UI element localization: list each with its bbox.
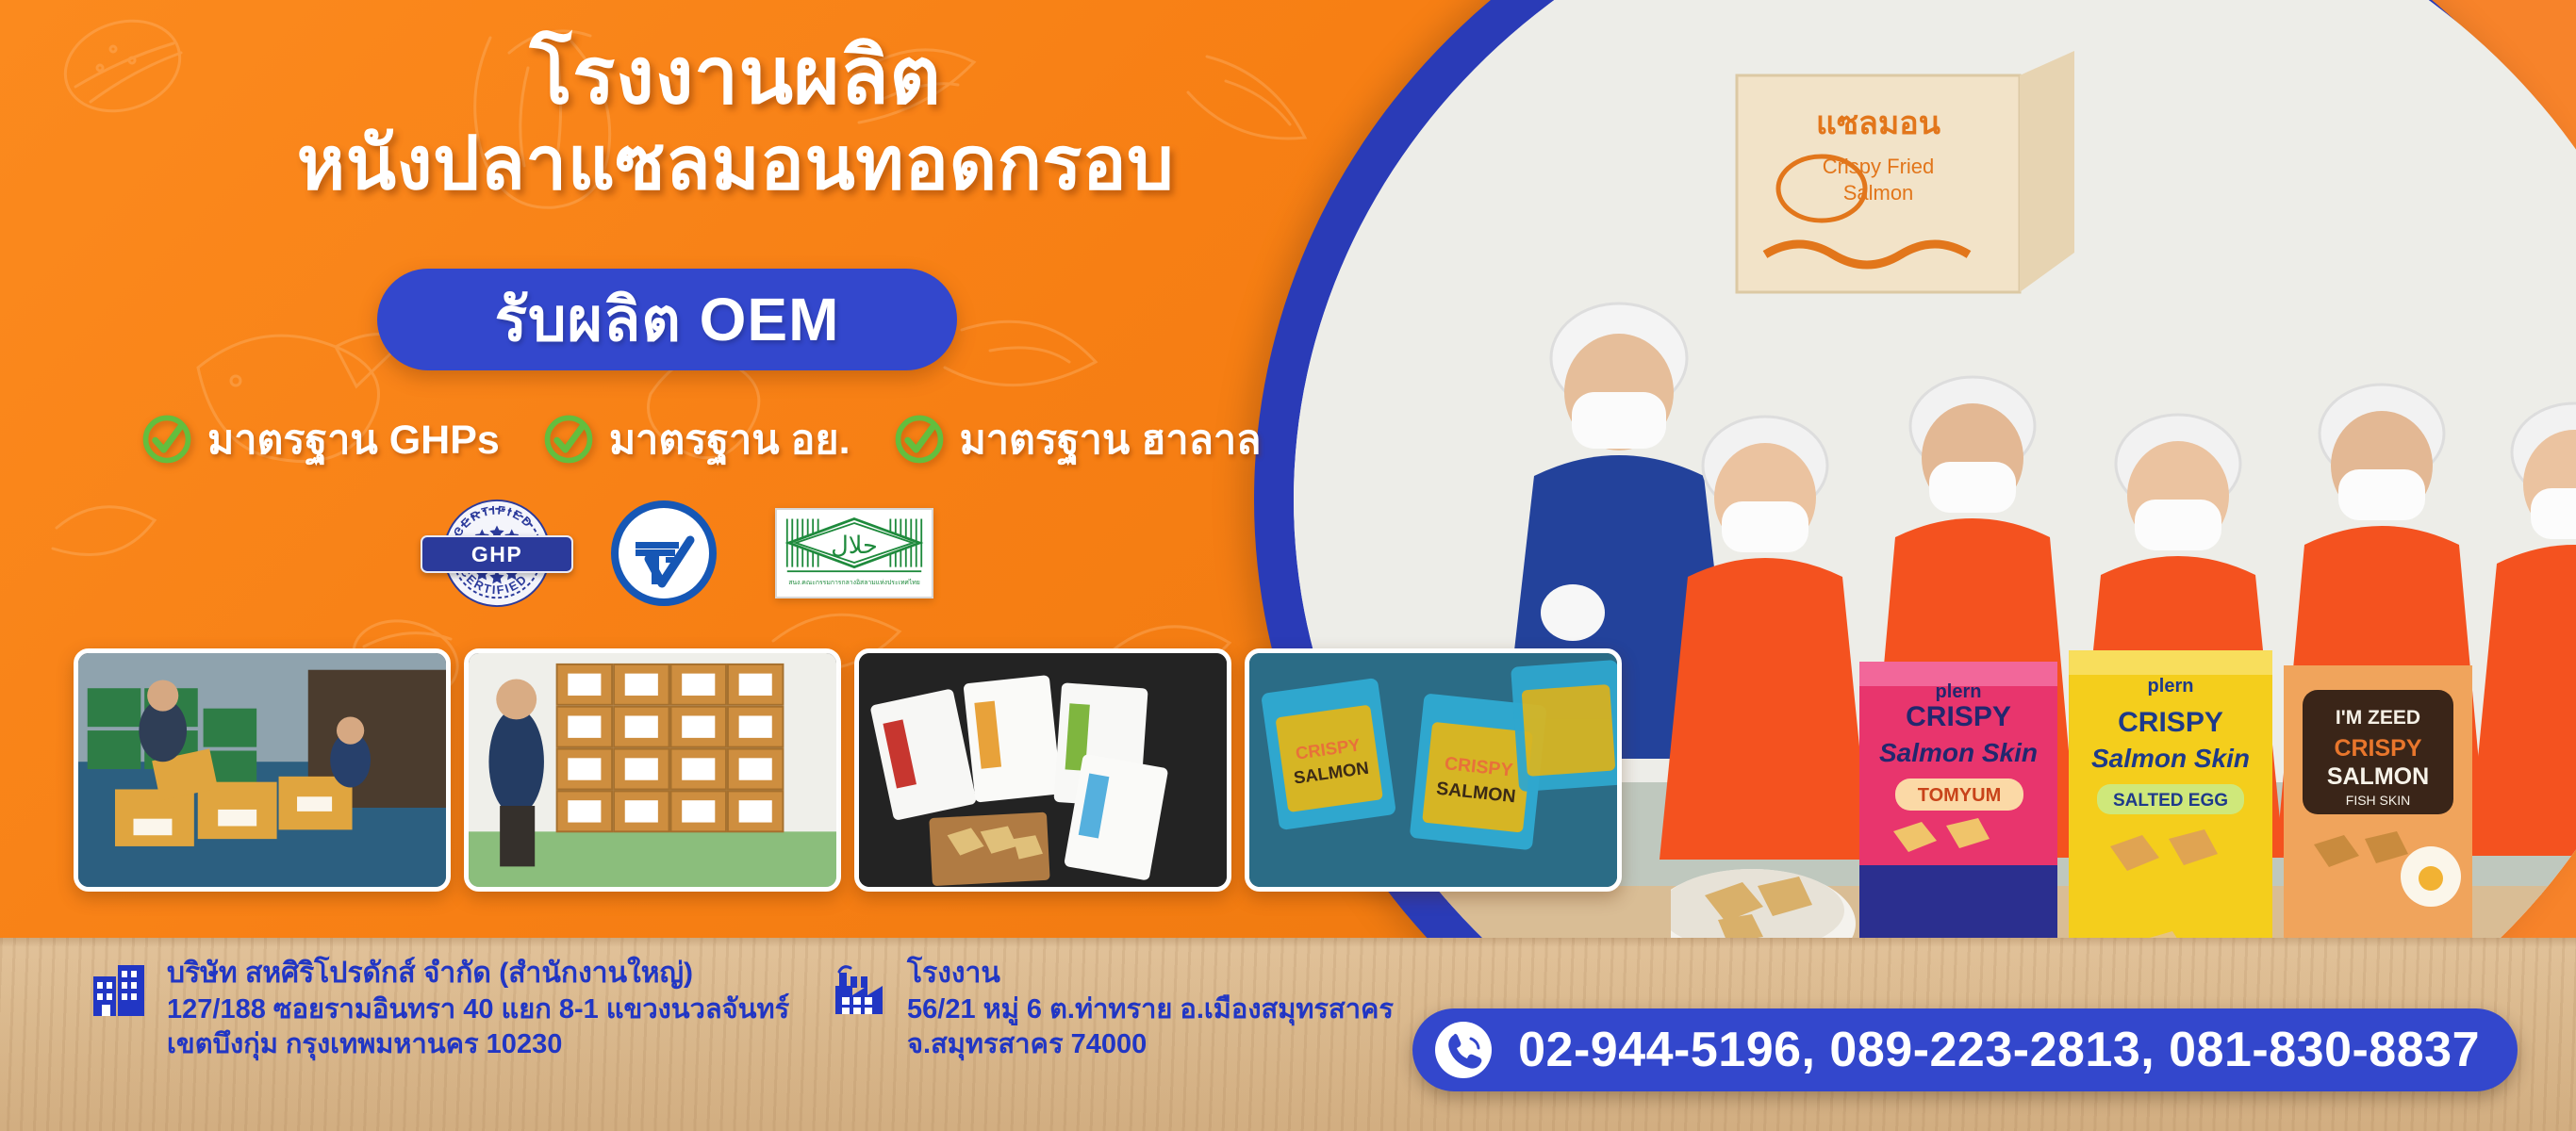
standard-item: มาตรฐาน ฮาลาล <box>894 407 1262 471</box>
thumb-warehouse-loading[interactable] <box>74 648 451 892</box>
standard-item: มาตรฐาน GHPs <box>141 407 500 471</box>
svg-text:plern: plern <box>2148 676 2194 697</box>
svg-text:Salmon: Salmon <box>1843 181 1914 205</box>
oem-button-label: รับผลิต OEM <box>495 271 840 368</box>
headline-line-2: หนังปลาแซลมอนทอดกรอบ <box>236 123 1235 205</box>
thumb-blue-gold-packs[interactable]: CRISPY SALMON CRISPY SALMON <box>1245 648 1622 892</box>
svg-text:CRISPY: CRISPY <box>1906 701 2011 732</box>
contact-factory: โรงงาน 56/21 หมู่ 6 ต.ท่าทราย อ.เมืองสมุ… <box>830 956 1394 1063</box>
ghp-plate-label: GHP <box>421 535 573 573</box>
phone-numbers: 02-944-5196, 089-223-2813, 081-830-8837 <box>1518 1022 2480 1078</box>
office-title: บริษัท สหศิริโปรดักส์ จำกัด (สำนักงานใหญ… <box>167 956 789 992</box>
pack-salted-egg: plern CRISPY Salmon Skin SALTED EGG <box>2069 650 2272 963</box>
halal-thailand-badge: حلال สนง.คณะกรรมการกลางอิสลามแห่งประเทศไ… <box>775 508 933 598</box>
svg-text:แซลมอน: แซลมอน <box>1816 106 1940 141</box>
svg-text:SALTED EGG: SALTED EGG <box>2113 791 2228 811</box>
standard-label: มาตรฐาน อย. <box>609 407 850 471</box>
certification-badges: CERTIFIED CERTIFIED GHP <box>441 498 933 609</box>
svg-text:حلال: حلال <box>831 532 878 560</box>
factory-title: โรงงาน <box>907 956 1394 992</box>
svg-text:CRISPY: CRISPY <box>2334 735 2421 762</box>
factory-line-1: 56/21 หมู่ 6 ต.ท่าทราย อ.เมืองสมุทรสาคร <box>907 992 1394 1028</box>
pack-im-zeed: I'M ZEED CRISPY SALMON FISH SKIN <box>2284 665 2472 963</box>
svg-text:SALMON: SALMON <box>2327 763 2429 790</box>
thumb-cartons-stacked[interactable] <box>464 648 841 892</box>
pack-tomyum: CRISPY Salmon Skin TOMYUM plern <box>1859 662 2057 963</box>
svg-text:TOMYUM: TOMYUM <box>1918 785 2002 806</box>
factory-line-2: จ.สมุทรสาคร 74000 <box>907 1027 1394 1063</box>
oem-button[interactable]: รับผลิต OEM <box>377 269 957 370</box>
svg-text:CRISPY: CRISPY <box>2118 707 2223 738</box>
phone-icon <box>1433 1020 1494 1080</box>
ghp-certified-seal: CERTIFIED CERTIFIED GHP <box>441 498 553 609</box>
thumb-white-pouches[interactable] <box>854 648 1231 892</box>
halal-caption: สนง.คณะกรรมการกลางอิสลามแห่งประเทศไทย <box>788 579 920 586</box>
contact-office: บริษัท สหศิริโปรดักส์ จำกัด (สำนักงานใหญ… <box>90 956 789 1063</box>
office-line-2: เขตบึงกุ่ม กรุงเทพมหานคร 10230 <box>167 1027 789 1063</box>
office-line-1: 127/188 ซอยรามอินทรา 40 แยก 8-1 แขวงนวลจ… <box>167 992 789 1028</box>
headline-line-1: โรงงานผลิต <box>236 36 1235 117</box>
standard-item: มาตรฐาน อย. <box>543 407 850 471</box>
standard-label: มาตรฐาน ฮาลาล <box>960 407 1262 471</box>
promo-banner: แซลมอน Crispy Fried Salmon <box>0 0 2576 1131</box>
phone-contact-pill[interactable]: 02-944-5196, 089-223-2813, 081-830-8837 <box>1412 1008 2518 1091</box>
tuv-mark-badge <box>611 500 717 606</box>
svg-text:I'M ZEED: I'M ZEED <box>2336 707 2420 729</box>
factory-icon <box>830 959 888 1018</box>
green-check-icon <box>894 414 945 465</box>
svg-text:Salmon Skin: Salmon Skin <box>2091 744 2250 773</box>
green-check-icon <box>141 414 192 465</box>
standard-label: มาตรฐาน GHPs <box>207 407 500 471</box>
building-icon <box>90 959 148 1018</box>
svg-text:Salmon Skin: Salmon Skin <box>1879 738 2038 767</box>
svg-text:plern: plern <box>1936 681 1982 702</box>
thumbnail-strip: CRISPY SALMON CRISPY SALMON <box>74 648 1622 892</box>
standards-row: มาตรฐาน GHPs มาตรฐาน อย. มาตรฐาน ฮาลาล <box>141 407 1262 471</box>
headline: โรงงานผลิต หนังปลาแซลมอนทอดกรอบ <box>236 36 1235 205</box>
svg-text:FISH SKIN: FISH SKIN <box>2346 793 2410 808</box>
green-check-icon <box>543 414 594 465</box>
